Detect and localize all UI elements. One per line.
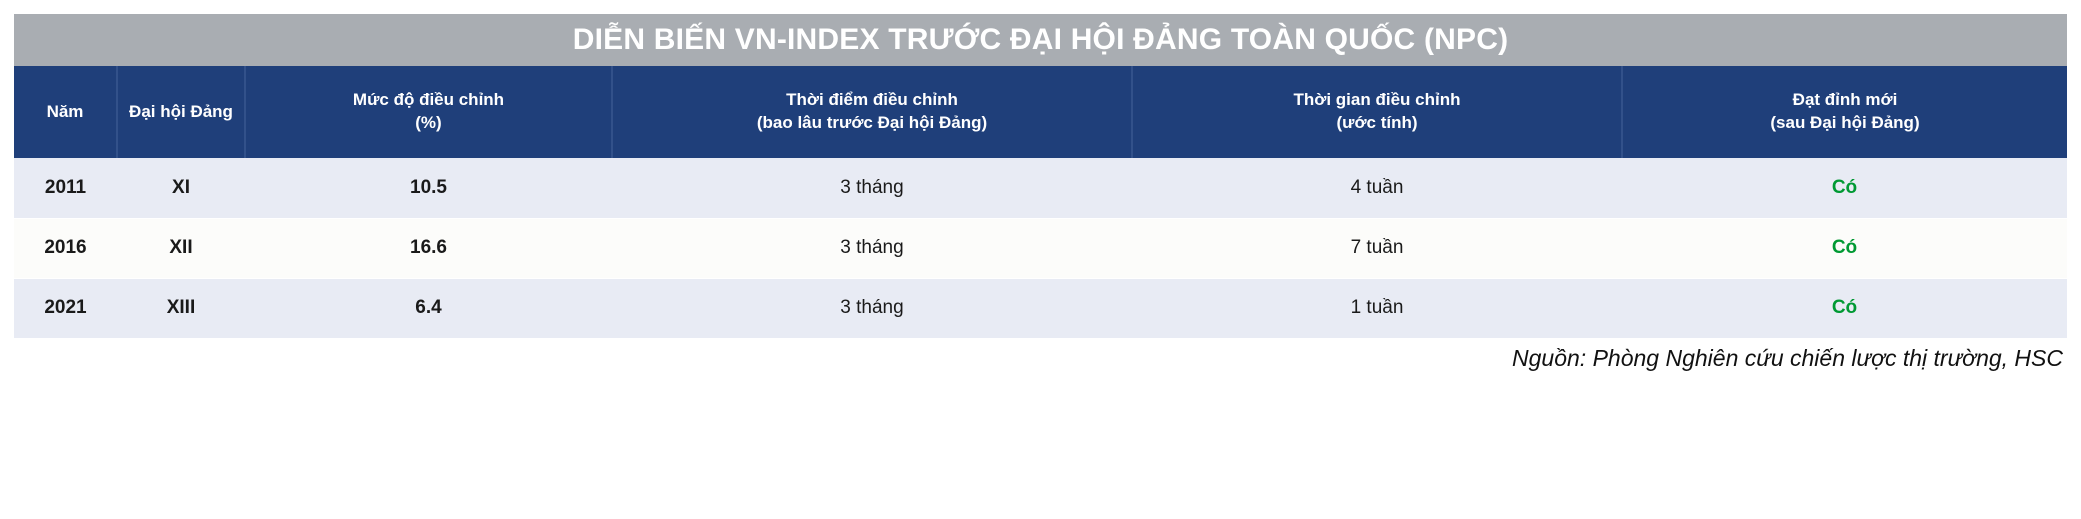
cell-correction-duration: 7 tuần (1132, 218, 1622, 278)
column-header-year: Năm (14, 66, 117, 158)
vnindex-npc-table-figure: DIỄN BIẾN VN-INDEX TRƯỚC ĐẠI HỘI ĐẢNG TO… (0, 0, 2081, 519)
column-header-new-peak-title: Đạt đỉnh mới (1793, 90, 1898, 109)
column-header-correction-timing-sub: (bao lâu trước Đại hội Đảng) (619, 112, 1125, 135)
cell-correction-timing: 3 tháng (612, 218, 1132, 278)
column-header-correction-pct-title: Mức độ điều chỉnh (353, 90, 504, 109)
cell-correction-timing: 3 tháng (612, 278, 1132, 338)
cell-new-peak: Có (1622, 278, 2067, 338)
column-header-correction-duration-sub: (ước tính) (1139, 112, 1615, 135)
cell-new-peak: Có (1622, 218, 2067, 278)
table-header: Năm Đại hội Đảng Mức độ điều chỉnh (%) T… (14, 66, 2067, 158)
source-note: Nguồn: Phòng Nghiên cứu chiến lược thị t… (1512, 345, 2063, 372)
cell-correction-duration: 1 tuần (1132, 278, 1622, 338)
cell-year: 2021 (14, 278, 117, 338)
column-header-congress: Đại hội Đảng (117, 66, 245, 158)
table-body: 2011 XI 10.5 3 tháng 4 tuần Có 2016 XII … (14, 158, 2067, 338)
cell-correction-pct: 16.6 (245, 218, 612, 278)
table-row: 2021 XIII 6.4 3 tháng 1 tuần Có (14, 278, 2067, 338)
cell-year: 2016 (14, 218, 117, 278)
cell-correction-timing: 3 tháng (612, 158, 1132, 218)
column-header-correction-duration-title: Thời gian điều chỉnh (1294, 90, 1461, 109)
cell-correction-pct: 6.4 (245, 278, 612, 338)
column-header-correction-duration: Thời gian điều chỉnh (ước tính) (1132, 66, 1622, 158)
column-header-correction-pct: Mức độ điều chỉnh (%) (245, 66, 612, 158)
table-row: 2016 XII 16.6 3 tháng 7 tuần Có (14, 218, 2067, 278)
cell-congress: XII (117, 218, 245, 278)
column-header-correction-timing-title: Thời điểm điều chỉnh (786, 90, 958, 109)
column-header-new-peak-sub: (sau Đại hội Đảng) (1629, 112, 2061, 135)
figure-title: DIỄN BIẾN VN-INDEX TRƯỚC ĐẠI HỘI ĐẢNG TO… (573, 25, 1509, 55)
figure-title-bar: DIỄN BIẾN VN-INDEX TRƯỚC ĐẠI HỘI ĐẢNG TO… (14, 14, 2067, 66)
table-header-row: Năm Đại hội Đảng Mức độ điều chỉnh (%) T… (14, 66, 2067, 158)
cell-correction-duration: 4 tuần (1132, 158, 1622, 218)
table-row: 2011 XI 10.5 3 tháng 4 tuần Có (14, 158, 2067, 218)
vnindex-correction-table: Năm Đại hội Đảng Mức độ điều chỉnh (%) T… (14, 66, 2067, 339)
column-header-correction-pct-sub: (%) (252, 112, 605, 135)
column-header-year-title: Năm (47, 102, 84, 121)
cell-congress: XI (117, 158, 245, 218)
cell-new-peak: Có (1622, 158, 2067, 218)
cell-congress: XIII (117, 278, 245, 338)
column-header-congress-title: Đại hội Đảng (129, 102, 233, 121)
cell-correction-pct: 10.5 (245, 158, 612, 218)
cell-year: 2011 (14, 158, 117, 218)
column-header-correction-timing: Thời điểm điều chỉnh (bao lâu trước Đại … (612, 66, 1132, 158)
table-container: Năm Đại hội Đảng Mức độ điều chỉnh (%) T… (14, 66, 2067, 339)
column-header-new-peak: Đạt đỉnh mới (sau Đại hội Đảng) (1622, 66, 2067, 158)
